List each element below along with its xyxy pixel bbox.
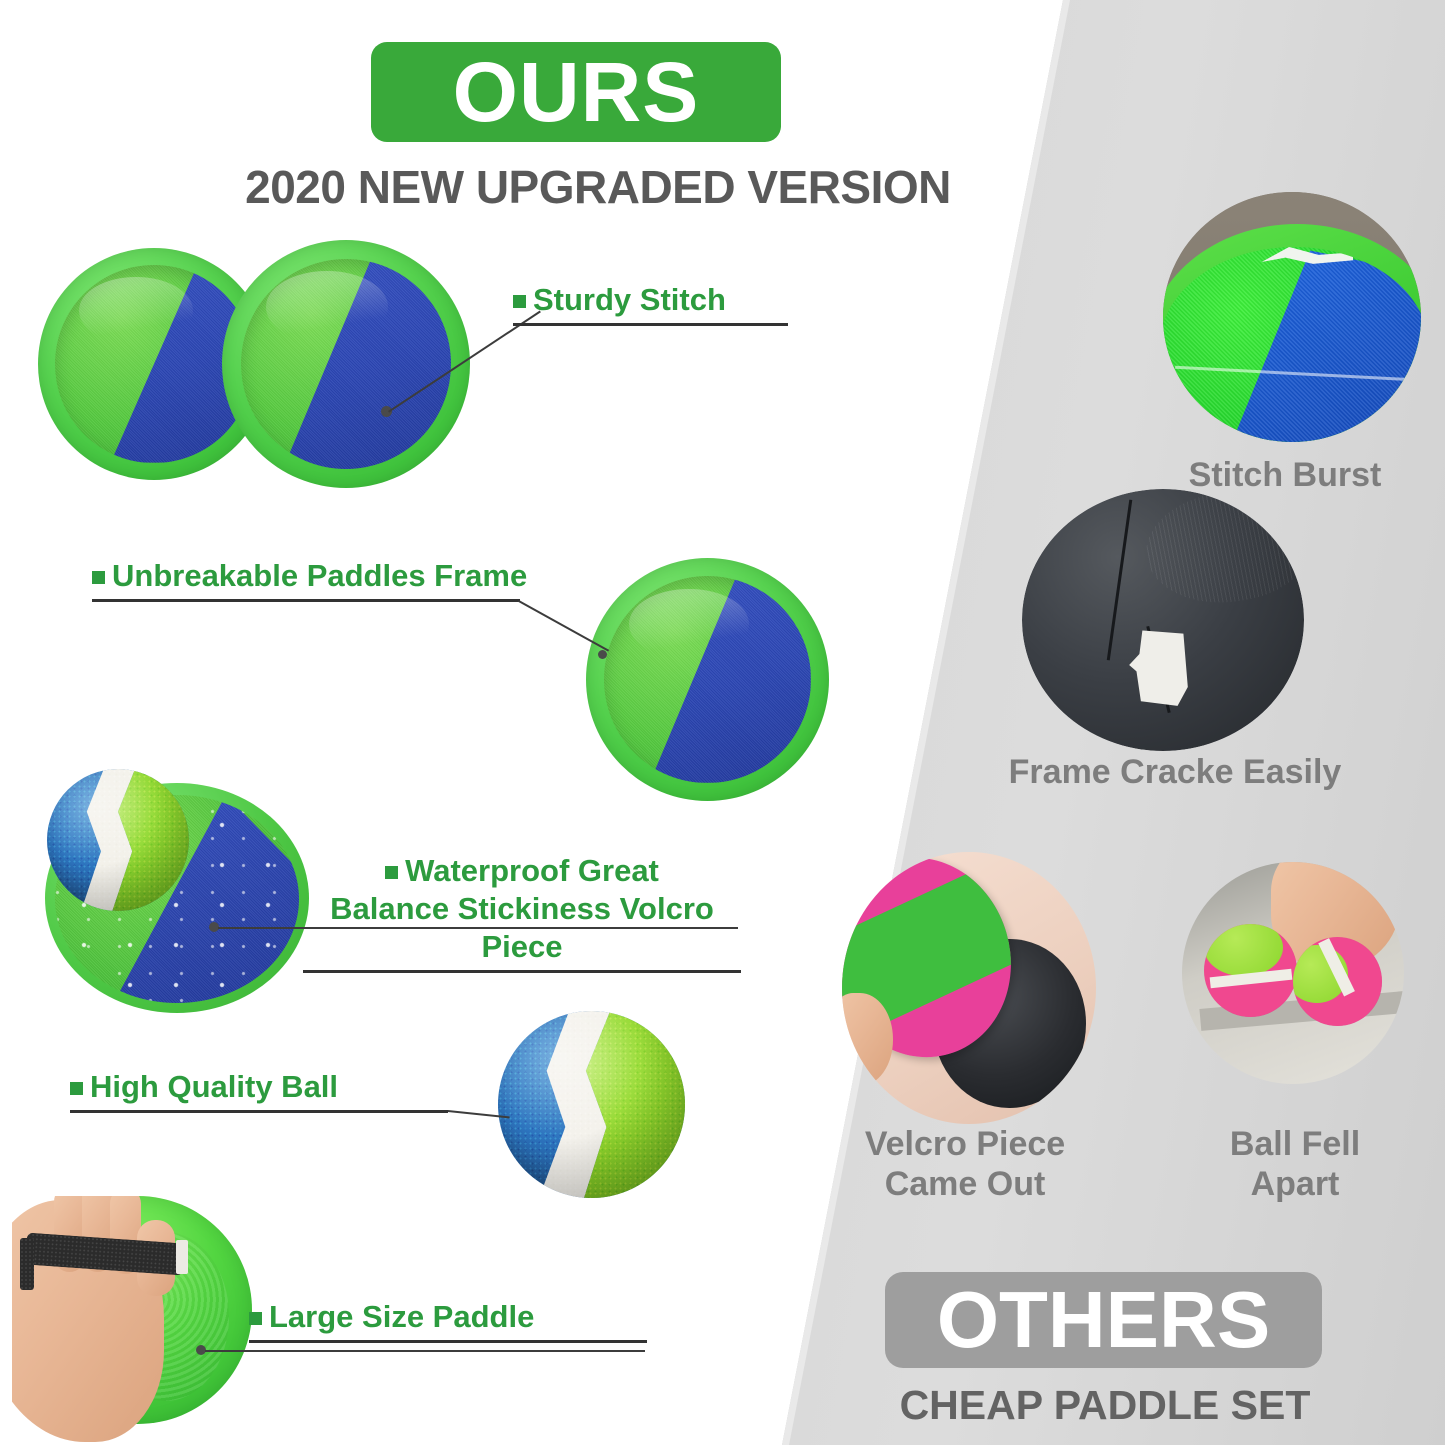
paddle-single: [586, 558, 829, 801]
callout-waterproof-velcro: Waterproof Great Balance Stickiness Volc…: [303, 852, 741, 973]
callout-underline: [92, 599, 520, 602]
photo-frame-crack: [1022, 489, 1304, 751]
paddle-blue-section: [604, 576, 811, 783]
callout-underline: [249, 1340, 647, 1343]
caption-velcro-out: Velcro Piece Came Out: [830, 1124, 1100, 1204]
ball-shading: [47, 769, 189, 911]
caption-frame-cracke: Frame Cracke Easily: [960, 752, 1390, 792]
callout-label-line2: Balance Stickiness Volcro Piece: [303, 890, 741, 966]
infographic-canvas: OURS 2020 NEW UPGRADED VERSION Sturdy St…: [0, 0, 1445, 1445]
callout-underline: [70, 1110, 448, 1113]
paddle-velcro-face: [1163, 247, 1421, 443]
others-badge: OTHERS: [885, 1272, 1322, 1368]
caption-line1: Velcro Piece: [830, 1124, 1100, 1164]
paddle-velcro-face: [604, 576, 811, 783]
photo-ball-apart: [1182, 862, 1404, 1084]
paddle-velcro-face: [241, 259, 452, 470]
paddle-rim: [1163, 224, 1421, 442]
leader-line-unbreakable-frame: [518, 600, 609, 652]
caption-ball-apart: Ball Fell Apart: [1180, 1124, 1410, 1204]
callout-underline: [513, 323, 788, 326]
callout-label: High Quality Ball: [70, 1068, 448, 1106]
ours-subtitle: 2020 NEW UPGRADED VERSION: [228, 160, 968, 214]
caption-line1: Ball Fell: [1180, 1124, 1410, 1164]
callout-label-line1: Waterproof Great: [303, 852, 741, 890]
caption-line2: Came Out: [830, 1164, 1100, 1204]
square-bullet-icon: [513, 295, 526, 308]
ours-badge-label: OURS: [453, 50, 700, 134]
callout-label: Large Size Paddle: [249, 1298, 647, 1336]
callout-sturdy-stitch: Sturdy Stitch: [513, 281, 788, 326]
square-bullet-icon: [92, 571, 105, 584]
leader-dot-unbreakable-frame: [598, 650, 607, 659]
others-badge-label: OTHERS: [937, 1280, 1270, 1360]
callout-label: Unbreakable Paddles Frame: [92, 557, 520, 595]
square-bullet-icon: [385, 866, 398, 879]
ours-badge: OURS: [371, 42, 781, 142]
ball-closeup: [498, 1011, 685, 1198]
photo-velcro-out: [842, 852, 1096, 1124]
ball-shading: [498, 1011, 685, 1198]
callout-underline: [303, 970, 741, 973]
paddle-blue-section: [241, 259, 452, 470]
callout-unbreakable-frame: Unbreakable Paddles Frame: [92, 557, 520, 602]
split-ball-left: [1204, 924, 1297, 1017]
paddle-pair-right: [222, 240, 470, 488]
callout-high-quality-ball: High Quality Ball: [70, 1068, 448, 1113]
strap-buckle: [20, 1238, 34, 1290]
ball-on-paddle: [47, 769, 189, 911]
square-bullet-icon: [249, 1312, 262, 1325]
paddle-blue-section: [1163, 247, 1421, 443]
caption-line2: Apart: [1180, 1164, 1410, 1204]
callout-large-size-paddle: Large Size Paddle: [249, 1298, 647, 1343]
square-bullet-icon: [70, 1082, 83, 1095]
callout-label: Sturdy Stitch: [513, 281, 788, 319]
leader-line-large-paddle: [205, 1350, 645, 1352]
photo-stitch-burst: [1163, 192, 1421, 442]
strap-velcro-tab: [176, 1240, 188, 1274]
split-ball-right: [1293, 937, 1382, 1026]
others-subtitle: CHEAP PADDLE SET: [855, 1382, 1355, 1429]
photo-waterproof-paddle: [45, 769, 309, 1013]
